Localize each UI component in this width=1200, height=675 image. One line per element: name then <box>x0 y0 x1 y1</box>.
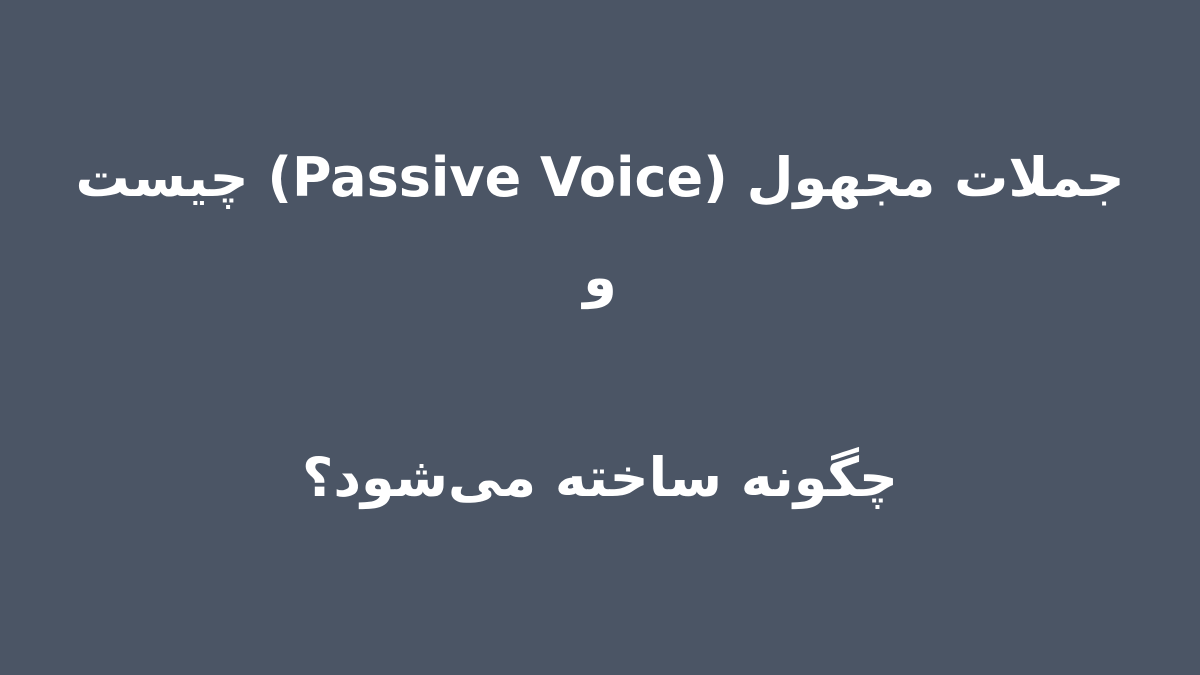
title-card: جملات مجهول (Passive Voice) چیست و چگونه… <box>0 0 1200 675</box>
headline-line-1: جملات مجهول (Passive Voice) چیست و <box>70 128 1130 328</box>
headline-line-2: چگونه ساخته می‌شود؟ <box>70 428 1130 528</box>
headline-block: جملات مجهول (Passive Voice) چیست و چگونه… <box>70 28 1130 628</box>
page-title: جملات مجهول (Passive Voice) چیست و چگونه… <box>70 28 1130 628</box>
